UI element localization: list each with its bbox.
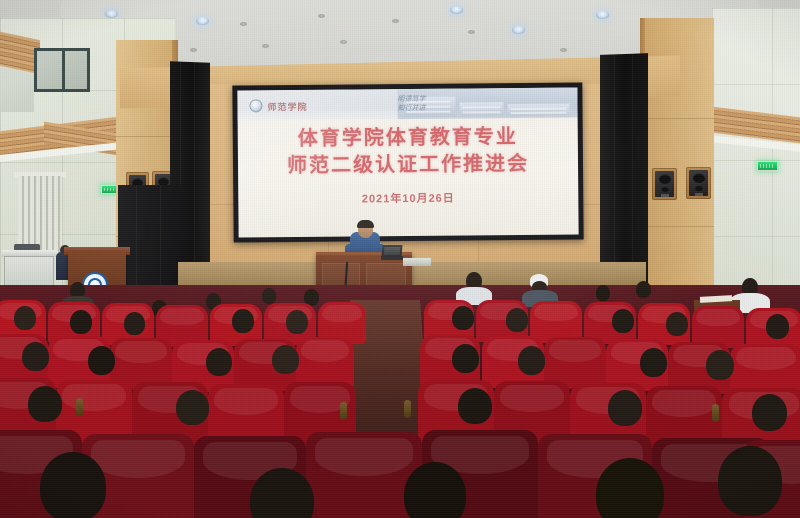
audience-head [636, 281, 651, 298]
seat-armrest [404, 400, 411, 418]
curtain-fold [632, 54, 633, 289]
curtain-fold [614, 54, 615, 289]
audience-head [28, 386, 62, 422]
screen-glare [237, 88, 578, 238]
exit-sign-glow [760, 164, 775, 168]
auditorium-photo: 师范学院 明德笃学 知行并进 体育学院体育教育专业 师范二级认证工作推进会 20… [0, 0, 800, 518]
ceiling-fitting-icon [190, 48, 197, 52]
laptop-screen [384, 247, 401, 255]
downlight-icon [196, 17, 209, 25]
audience-head [206, 348, 232, 376]
projection-screen: 师范学院 明德笃学 知行并进 体育学院体育教育专业 师范二级认证工作推进会 20… [237, 88, 578, 238]
audience-head [452, 344, 479, 373]
speaker-frame [686, 167, 711, 199]
speaker-cone-icon [659, 174, 671, 184]
curtain-fold [136, 185, 137, 293]
emergency-exit-sign [757, 161, 778, 171]
audience-head-foreground [40, 452, 106, 518]
audience-head [518, 346, 545, 375]
audience-head [262, 288, 276, 304]
speaker-cone-icon [661, 186, 669, 192]
laptop-base [381, 256, 403, 260]
audience-head [124, 312, 145, 335]
seat-armrest [76, 398, 83, 416]
seat-armrest [340, 402, 347, 420]
loudspeaker-icon [689, 170, 708, 196]
audience-head [458, 388, 492, 424]
ceiling-fitting-icon [240, 22, 247, 26]
audience-head [506, 308, 528, 332]
audience-head [286, 310, 308, 334]
ceiling-fitting-icon [392, 19, 399, 23]
audience-head [640, 348, 667, 377]
audience-head [596, 285, 610, 301]
downlight-icon [596, 11, 609, 19]
right-tiled-wall [712, 8, 800, 318]
curtain-fold [160, 185, 161, 293]
column-seam [116, 136, 178, 137]
column-seam [640, 118, 714, 119]
audience-head [608, 390, 642, 426]
curtain-fold [194, 62, 195, 287]
audience-head [752, 394, 787, 431]
downlight-icon [105, 10, 118, 18]
audience-head [766, 314, 789, 339]
speaker-frame [652, 168, 677, 200]
audience-head [70, 310, 92, 334]
audience-head-foreground [718, 446, 782, 516]
ceiling-fitting-icon [318, 14, 325, 18]
speaker-cone-icon [693, 173, 705, 183]
audience-head [452, 306, 474, 330]
audience-head [22, 342, 49, 371]
side-table [403, 258, 431, 266]
window-mullion [62, 48, 65, 92]
audience-head [14, 306, 36, 330]
ceiling-fitting-icon [560, 48, 567, 52]
ceiling-fitting-icon [262, 44, 269, 48]
audience-head [612, 309, 634, 333]
stage-curtain-right [600, 53, 648, 290]
column-seam [640, 226, 714, 227]
tile-grid [712, 8, 800, 318]
presenter-hair [357, 220, 374, 228]
ceiling-fitting-icon [340, 40, 347, 44]
audience-head [88, 346, 115, 375]
seat-armrest [712, 404, 719, 422]
downlight-icon [450, 6, 463, 14]
speaker-cone-icon [695, 185, 703, 191]
audience-head [706, 350, 734, 380]
downlight-icon [512, 26, 525, 34]
stage-curtain-lower-left [118, 185, 184, 293]
loudspeaker-icon [655, 171, 674, 197]
speaker-badge [695, 193, 703, 196]
speaker-badge [661, 194, 669, 197]
audience-head [666, 312, 688, 336]
projection-screen-frame: 师范学院 明德笃学 知行并进 体育学院体育教育专业 师范二级认证工作推进会 20… [232, 82, 583, 242]
ceiling-fitting-icon [468, 30, 475, 34]
audience-head [232, 309, 254, 333]
audience-head [176, 390, 209, 425]
audience-head [272, 345, 299, 374]
